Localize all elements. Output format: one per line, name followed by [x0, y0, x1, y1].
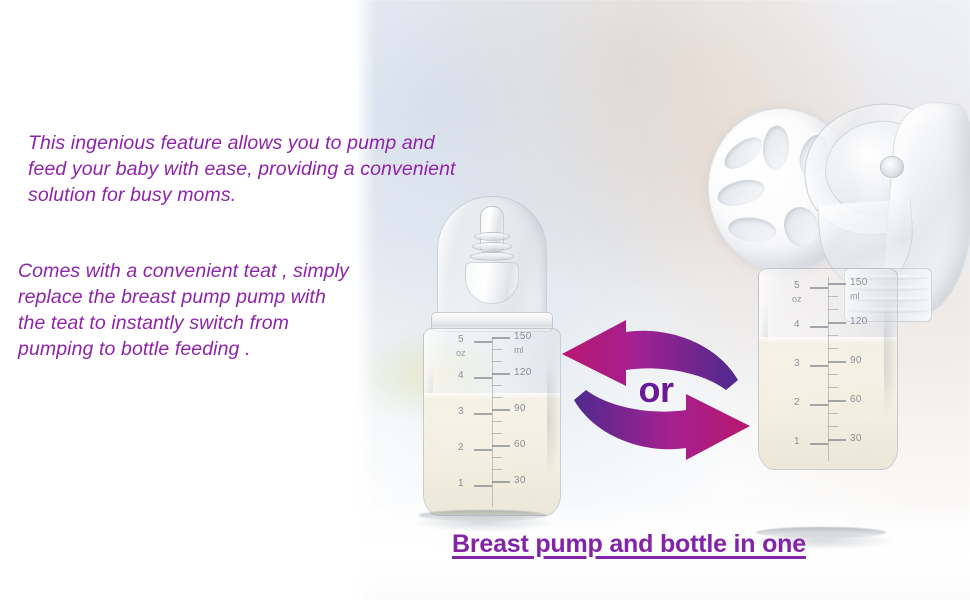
milk-fill: [424, 393, 560, 515]
tick-150: [492, 337, 510, 339]
tick-150: [828, 283, 846, 285]
oz-unit: oz: [792, 294, 802, 304]
or-label: or: [556, 320, 756, 460]
milk-fill: [759, 337, 897, 469]
tick-minor-3: [492, 385, 502, 386]
tick-minor-2: [828, 309, 838, 310]
cushion-petal-5: [727, 215, 777, 244]
tick-5oz: [474, 341, 492, 343]
tick-4oz: [810, 326, 828, 328]
oz-unit: oz: [456, 348, 466, 358]
pump-bottle: 150 ml 120 90 60 30 5 oz 4 3 2 1: [752, 268, 902, 518]
teat: [465, 206, 517, 302]
oz-label-4: 4: [794, 319, 800, 330]
teat-ring-3: [470, 252, 514, 261]
tick-minor-3: [828, 335, 838, 336]
oz-label-5: 5: [794, 280, 800, 291]
tick-minor-2: [492, 361, 502, 362]
cushion-petal-4: [715, 175, 767, 210]
handle-hinge: [880, 156, 904, 178]
teat-skirt: [465, 262, 519, 304]
bottle-with-teat: 150 ml 120 90 60 30 5 oz 4 3 2 1: [415, 196, 567, 516]
tick-120: [492, 373, 510, 375]
teat-ring-1: [474, 232, 510, 241]
ml-label-120: 120: [514, 367, 532, 378]
tick-4oz: [474, 377, 492, 379]
cushion-petal-1: [719, 131, 768, 175]
ml-unit: ml: [850, 291, 860, 301]
teat-ring-2: [472, 242, 512, 251]
tick-minor-1: [492, 349, 502, 350]
oz-label-5: 5: [458, 334, 464, 345]
tick-120: [828, 322, 846, 324]
ml-unit: ml: [514, 345, 524, 355]
bottle-body: 150 ml 120 90 60 30 5 oz 4 3 2 1: [423, 328, 561, 516]
ml-label-150: 150: [514, 331, 532, 342]
oz-label-4: 4: [458, 370, 464, 381]
ml-label-150: 150: [850, 277, 868, 288]
ml-label-120: 120: [850, 316, 868, 327]
page-headline: Breast pump and bottle in one: [452, 530, 806, 559]
cushion-petal-2: [762, 125, 791, 171]
bottle-body: 150 ml 120 90 60 30 5 oz 4 3 2 1: [758, 268, 898, 470]
or-arrows-graphic: or: [556, 320, 756, 460]
tick-minor-1: [828, 296, 838, 297]
feature-paragraph-2: Comes with a convenient teat , simply re…: [18, 258, 438, 362]
promo-banner: This ingenious feature allows you to pum…: [0, 0, 970, 600]
tick-5oz: [810, 287, 828, 289]
